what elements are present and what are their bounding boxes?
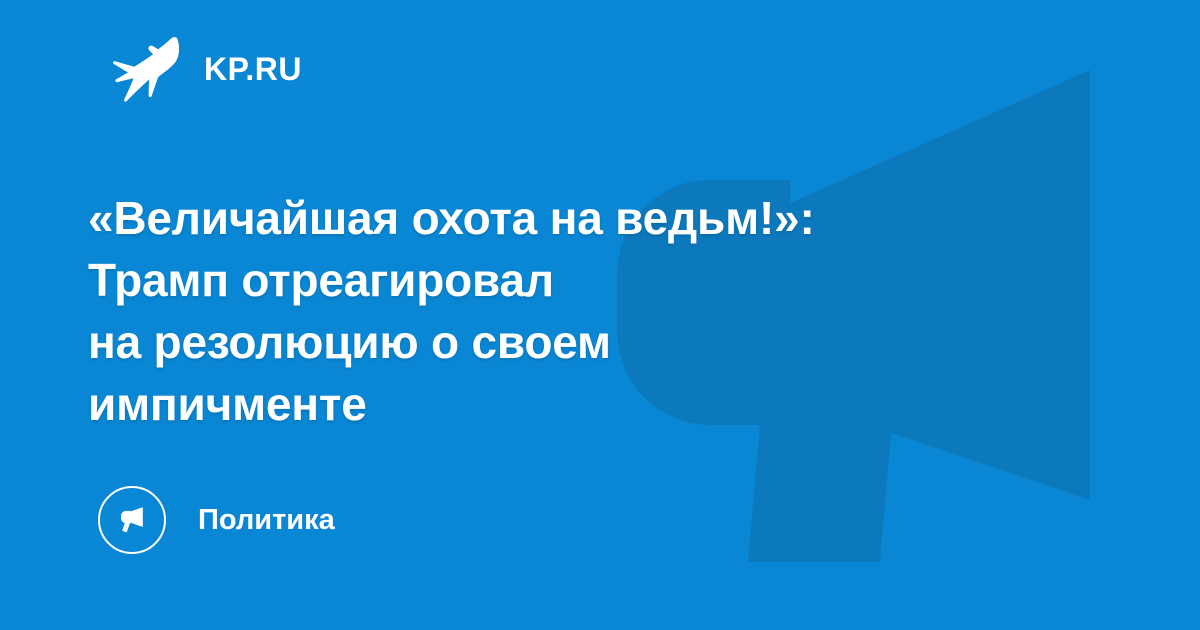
headline-line-3: на резолюцию о своем <box>88 311 1068 373</box>
category-icon-circle <box>98 486 166 554</box>
headline-line-1: «Величайшая охота на ведьм!»: <box>88 187 1068 249</box>
category-label: Политика <box>198 506 335 535</box>
site-logo[interactable]: KP.RU <box>108 33 302 105</box>
swallow-bird-icon <box>108 33 182 105</box>
headline-line-4: импичменте <box>88 373 1068 435</box>
headline: «Величайшая охота на ведьм!»: Трамп отре… <box>88 187 1068 435</box>
megaphone-icon <box>114 502 150 538</box>
logo-text: KP.RU <box>204 53 302 85</box>
category-badge[interactable]: Политика <box>98 484 335 556</box>
share-card: KP.RU «Величайшая охота на ведьм!»: Трам… <box>0 0 1200 630</box>
headline-line-2: Трамп отреагировал <box>88 249 1068 311</box>
